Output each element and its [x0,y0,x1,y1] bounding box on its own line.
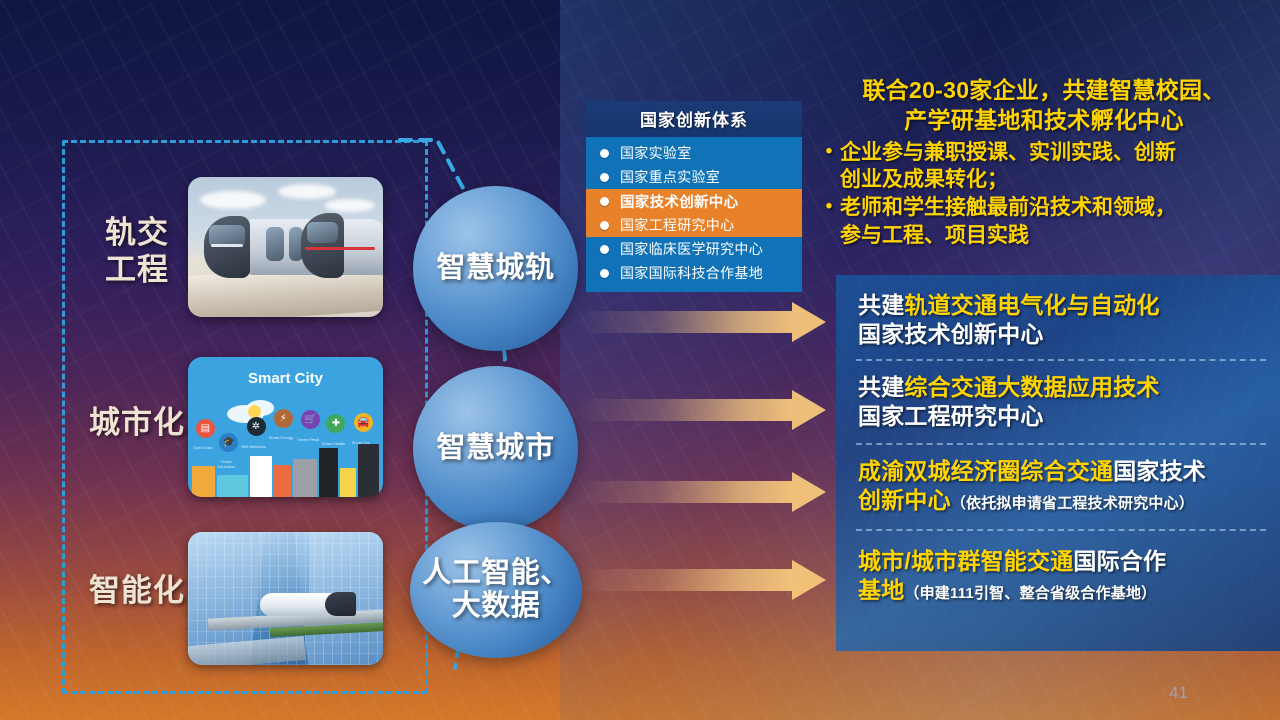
headline-title-line1: 联合20-30家企业，共建智慧校园、 [818,76,1270,106]
list-item-label: 国家临床医学研究中心 [620,239,763,259]
arrow-shaft [578,311,792,333]
right-arrow-icon [792,472,826,512]
result-divider [856,359,1266,361]
smart-energy-icon: ⚡ [274,409,293,428]
national-innovation-system-panel: 国家创新体系 国家实验室 国家重点实验室 国家技术创新中心 国家工程研究中心 [586,101,802,292]
smart-energy-caption: Smart Energy [268,435,294,440]
circle-label-line1: 人工智能、 [422,557,570,589]
bullet-text: 老师和学生接触最前沿技术和领域， 参与工程、项目实践 [840,194,1270,249]
smart-city-illustration: Smart City ▤ Open Data 🎓 Smart Education… [188,357,383,497]
result-note: （申建111引智、整合省级合作基地） [904,585,1156,602]
panel-title: 国家创新体系 [586,101,802,137]
result-divider [856,443,1266,445]
category-label-line1: 轨交 [72,215,202,252]
smart-education-icon: 🎓 [219,433,238,452]
wifi-networks-icon: ✲ [247,417,266,436]
circle-label-line2: 大数据 [452,590,541,622]
circle-ai-bigdata[interactable]: 人工智能、 大数据 [410,522,582,658]
headline-block: 联合20-30家企业，共建智慧校园、 产学研基地和技术孵化中心 • 企业参与兼职… [818,76,1270,250]
bullet-item: • 老师和学生接触最前沿技术和领域， 参与工程、项目实践 [818,194,1270,249]
smart-retail-caption: Smart Retail [295,437,321,442]
result-line2: 创新中心（依托拟申请省工程技术研究中心） [858,486,1264,515]
smart-health-caption: Smart Health [321,441,347,446]
open-data-icon: ▤ [196,419,215,438]
result-line2: 国家技术创新中心 [858,320,1264,349]
result-line2: 国家工程研究中心 [858,402,1264,431]
arrow-to-result-1 [578,302,826,342]
result-suffix: 国家技术 [1113,458,1206,484]
bullet-symbol-icon: • [818,139,840,194]
result-divider [856,529,1266,531]
bullet-dot-icon [600,269,609,278]
list-item-label: 国家国际科技合作基地 [620,263,763,283]
result-suffix: 国际合作 [1073,548,1166,574]
circle-label: 智慧城轨 [436,252,554,285]
smart-car-icon: 🚘 [354,413,373,432]
bullet-line1: 老师和学生接触最前沿技术和领域， [840,194,1270,221]
list-item[interactable]: 国家重点实验室 [586,165,802,189]
list-item-label: 国家工程研究中心 [620,215,734,235]
result-item-2: 共建综合交通大数据应用技术 国家工程研究中心 [858,373,1264,431]
right-arrow-icon [792,302,826,342]
list-item[interactable]: 国家临床医学研究中心 [586,237,802,261]
result-note: （依托拟申请省工程技术研究中心） [951,495,1194,512]
result-emphasis: 成渝双城经济圈综合交通 [858,458,1113,484]
arrow-shaft [578,569,792,591]
panel-list: 国家实验室 国家重点实验室 国家技术创新中心 国家工程研究中心 国家临床医学研究… [586,137,802,292]
result-line1: 城市/城市群智能交通国际合作 [858,547,1264,576]
bullet-item: • 企业参与兼职授课、实训实践、创新 创业及成果转化； [818,139,1270,194]
result-line1: 成渝双城经济圈综合交通国家技术 [858,457,1264,486]
smart-retail-icon: 🛒 [301,410,320,429]
list-item-highlighted[interactable]: 国家技术创新中心 [586,189,802,213]
bullet-text: 企业参与兼职授课、实训实践、创新 创业及成果转化； [840,139,1270,194]
result-line2-text: 创新中心 [858,487,951,513]
result-line2-text: 国家技术创新中心 [858,321,1044,347]
right-arrow-icon [792,390,826,430]
bullet-line2: 参与工程、项目实践 [840,222,1270,249]
circle-smart-rail-transit[interactable]: 智慧城轨 [413,186,578,351]
thumbnail-smart-city: Smart City ▤ Open Data 🎓 Smart Education… [188,357,383,497]
result-line2: 基地（申建111引智、整合省级合作基地） [858,576,1264,605]
arrow-to-result-2 [578,390,826,430]
list-item[interactable]: 国家国际科技合作基地 [586,261,802,285]
category-label-line1: 城市化 [72,405,202,442]
bullet-dot-icon [600,149,609,158]
list-item-label: 国家技术创新中心 [620,191,738,212]
category-label-rail-transit: 轨交 工程 [72,215,202,288]
bullet-symbol-icon: • [818,194,840,249]
circle-smart-city[interactable]: 智慧城市 [413,366,578,531]
urban-monorail-station-photo [188,532,383,665]
result-item-1: 共建轨道交通电气化与自动化 国家技术创新中心 [858,291,1264,349]
list-item[interactable]: 国家实验室 [586,141,802,165]
circle-label: 智慧城市 [436,432,554,465]
open-data-caption: Open Data [190,445,216,450]
result-item-4: 城市/城市群智能交通国际合作 基地（申建111引智、整合省级合作基地） [858,547,1264,605]
thumbnail-urban-station [188,532,383,665]
bullet-dot-icon [600,173,609,182]
headline-title-line2: 产学研基地和技术孵化中心 [818,106,1270,136]
result-emphasis: 综合交通大数据应用技术 [904,374,1159,400]
smart-education-caption: Smart Education [213,459,239,469]
category-label-line1: 智能化 [72,573,202,610]
bullet-dot-icon [600,221,609,230]
result-prefix: 共建 [858,374,904,400]
bullet-dot-icon [600,245,609,254]
arrow-to-result-4 [578,560,826,600]
arrow-shaft [578,481,792,503]
result-line1: 共建综合交通大数据应用技术 [858,373,1264,402]
category-label-line2: 工程 [72,252,202,289]
category-label-urbanization: 城市化 [72,405,202,442]
monorail-train-photo [188,177,383,317]
smart-city-title: Smart City [188,370,383,387]
bullet-line1: 企业参与兼职授课、实训实践、创新 [840,139,1270,166]
list-item-highlighted[interactable]: 国家工程研究中心 [586,213,802,237]
slide-canvas: 轨交 工程 城市化 智能化 Smart City [0,0,1280,720]
bullet-dot-icon [600,197,609,206]
result-emphasis: 城市/城市群智能交通 [858,548,1073,574]
circle-label: 人工智能、 大数据 [422,557,570,623]
smart-health-icon: ✚ [326,414,345,433]
result-prefix: 共建 [858,292,904,318]
result-line2-text: 基地 [858,577,904,603]
list-item-label: 国家重点实验室 [620,167,720,187]
result-line1: 共建轨道交通电气化与自动化 [858,291,1264,320]
arrow-to-result-3 [578,472,826,512]
category-label-intelligence: 智能化 [72,573,202,610]
results-panel: 共建轨道交通电气化与自动化 国家技术创新中心 共建综合交通大数据应用技术 国家工… [836,275,1280,651]
bullet-line2: 创业及成果转化； [840,166,1270,193]
result-line2-text: 国家工程研究中心 [858,403,1044,429]
thumbnail-monorail-train [188,177,383,317]
headline-bullet-list: • 企业参与兼职授课、实训实践、创新 创业及成果转化； • 老师和学生接触最前沿… [818,139,1270,249]
page-number: 41 [1169,683,1188,703]
arrow-shaft [578,399,792,421]
result-emphasis: 轨道交通电气化与自动化 [904,292,1159,318]
list-item-label: 国家实验室 [620,143,692,163]
result-item-3: 成渝双城经济圈综合交通国家技术 创新中心（依托拟申请省工程技术研究中心） [858,457,1264,515]
wifi-networks-caption: Wifi Networks [241,444,267,449]
right-arrow-icon [792,560,826,600]
